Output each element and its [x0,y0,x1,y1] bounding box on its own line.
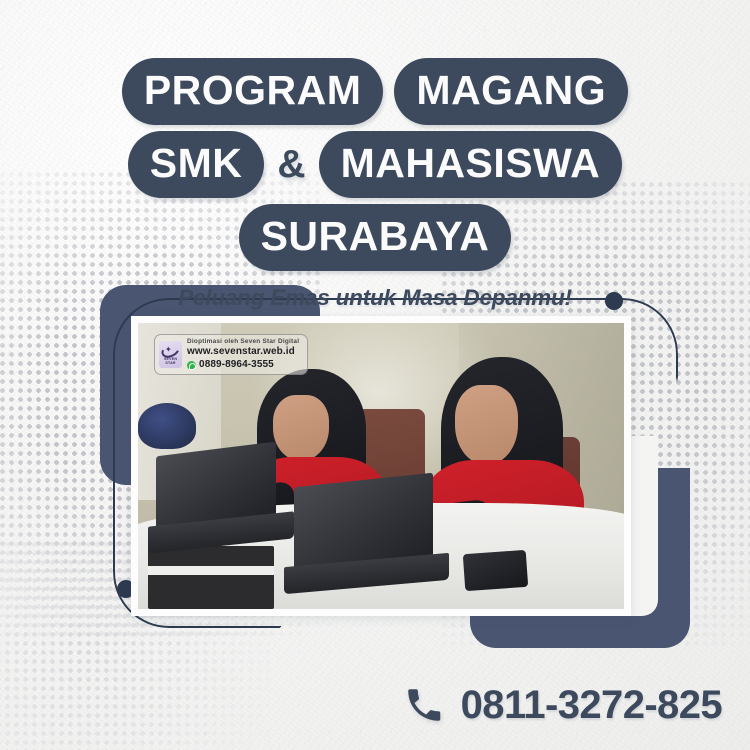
watermark-line-phone: 0889-8964-3555 [187,359,299,372]
watermark-line-website: www.sevenstar.web.id [187,346,299,359]
photo-table-front-edge [148,566,274,575]
phone-handset-icon [403,684,445,726]
photo-face [455,385,518,465]
headline-block: PROGRAM MAGANG SMK & MAHASISWA SURABAYA … [0,58,750,311]
headline-line-1: PROGRAM MAGANG [0,58,750,125]
poster-canvas: PROGRAM MAGANG SMK & MAHASISWA SURABAYA … [0,0,750,750]
photo-laptop-right [284,480,449,594]
photo-smartphone [462,550,528,591]
seven-star-logo-icon: ✦ SEVEN STAR [159,341,182,368]
photo-white-mat: ✦ SEVEN STAR Dioptimasi oleh Seven Star … [131,316,631,616]
contact-footer[interactable]: 0811-3272-825 [403,684,722,726]
photo-laptop-left [148,449,294,552]
watermark-phone-text: 0889-8964-3555 [199,359,274,372]
headline-pill-magang: MAGANG [394,58,628,125]
headline-pill-surabaya: SURABAYA [239,204,512,271]
headline-pill-smk: SMK [128,131,265,198]
photo-table-front-panel [148,546,274,609]
headline-ampersand: & [275,145,307,184]
headline-pill-program: PROGRAM [122,58,384,125]
logo-star-icon: ✦ [165,346,172,354]
headline-line-2: SMK & MAHASISWA [0,131,750,198]
watermark-text-block: Dioptimasi oleh Seven Star Digital www.s… [187,338,299,371]
watermark-line-optimized: Dioptimasi oleh Seven Star Digital [187,338,299,346]
contact-phone-number: 0811-3272-825 [461,685,722,725]
whatsapp-icon [187,361,196,370]
headline-pill-mahasiswa: MAHASISWA [319,131,623,198]
photo-frame-assembly: ✦ SEVEN STAR Dioptimasi oleh Seven Star … [95,280,695,650]
subtitle-tagline: Peluang Emas untuk Masa Depanmu! [0,285,750,311]
headline-line-3: SURABAYA [0,204,750,271]
logo-brand-text: SEVEN STAR [159,357,182,365]
photo-internship-students: ✦ SEVEN STAR Dioptimasi oleh Seven Star … [138,323,624,609]
photo-helmet [138,403,196,449]
photo-watermark-badge: ✦ SEVEN STAR Dioptimasi oleh Seven Star … [154,334,308,375]
